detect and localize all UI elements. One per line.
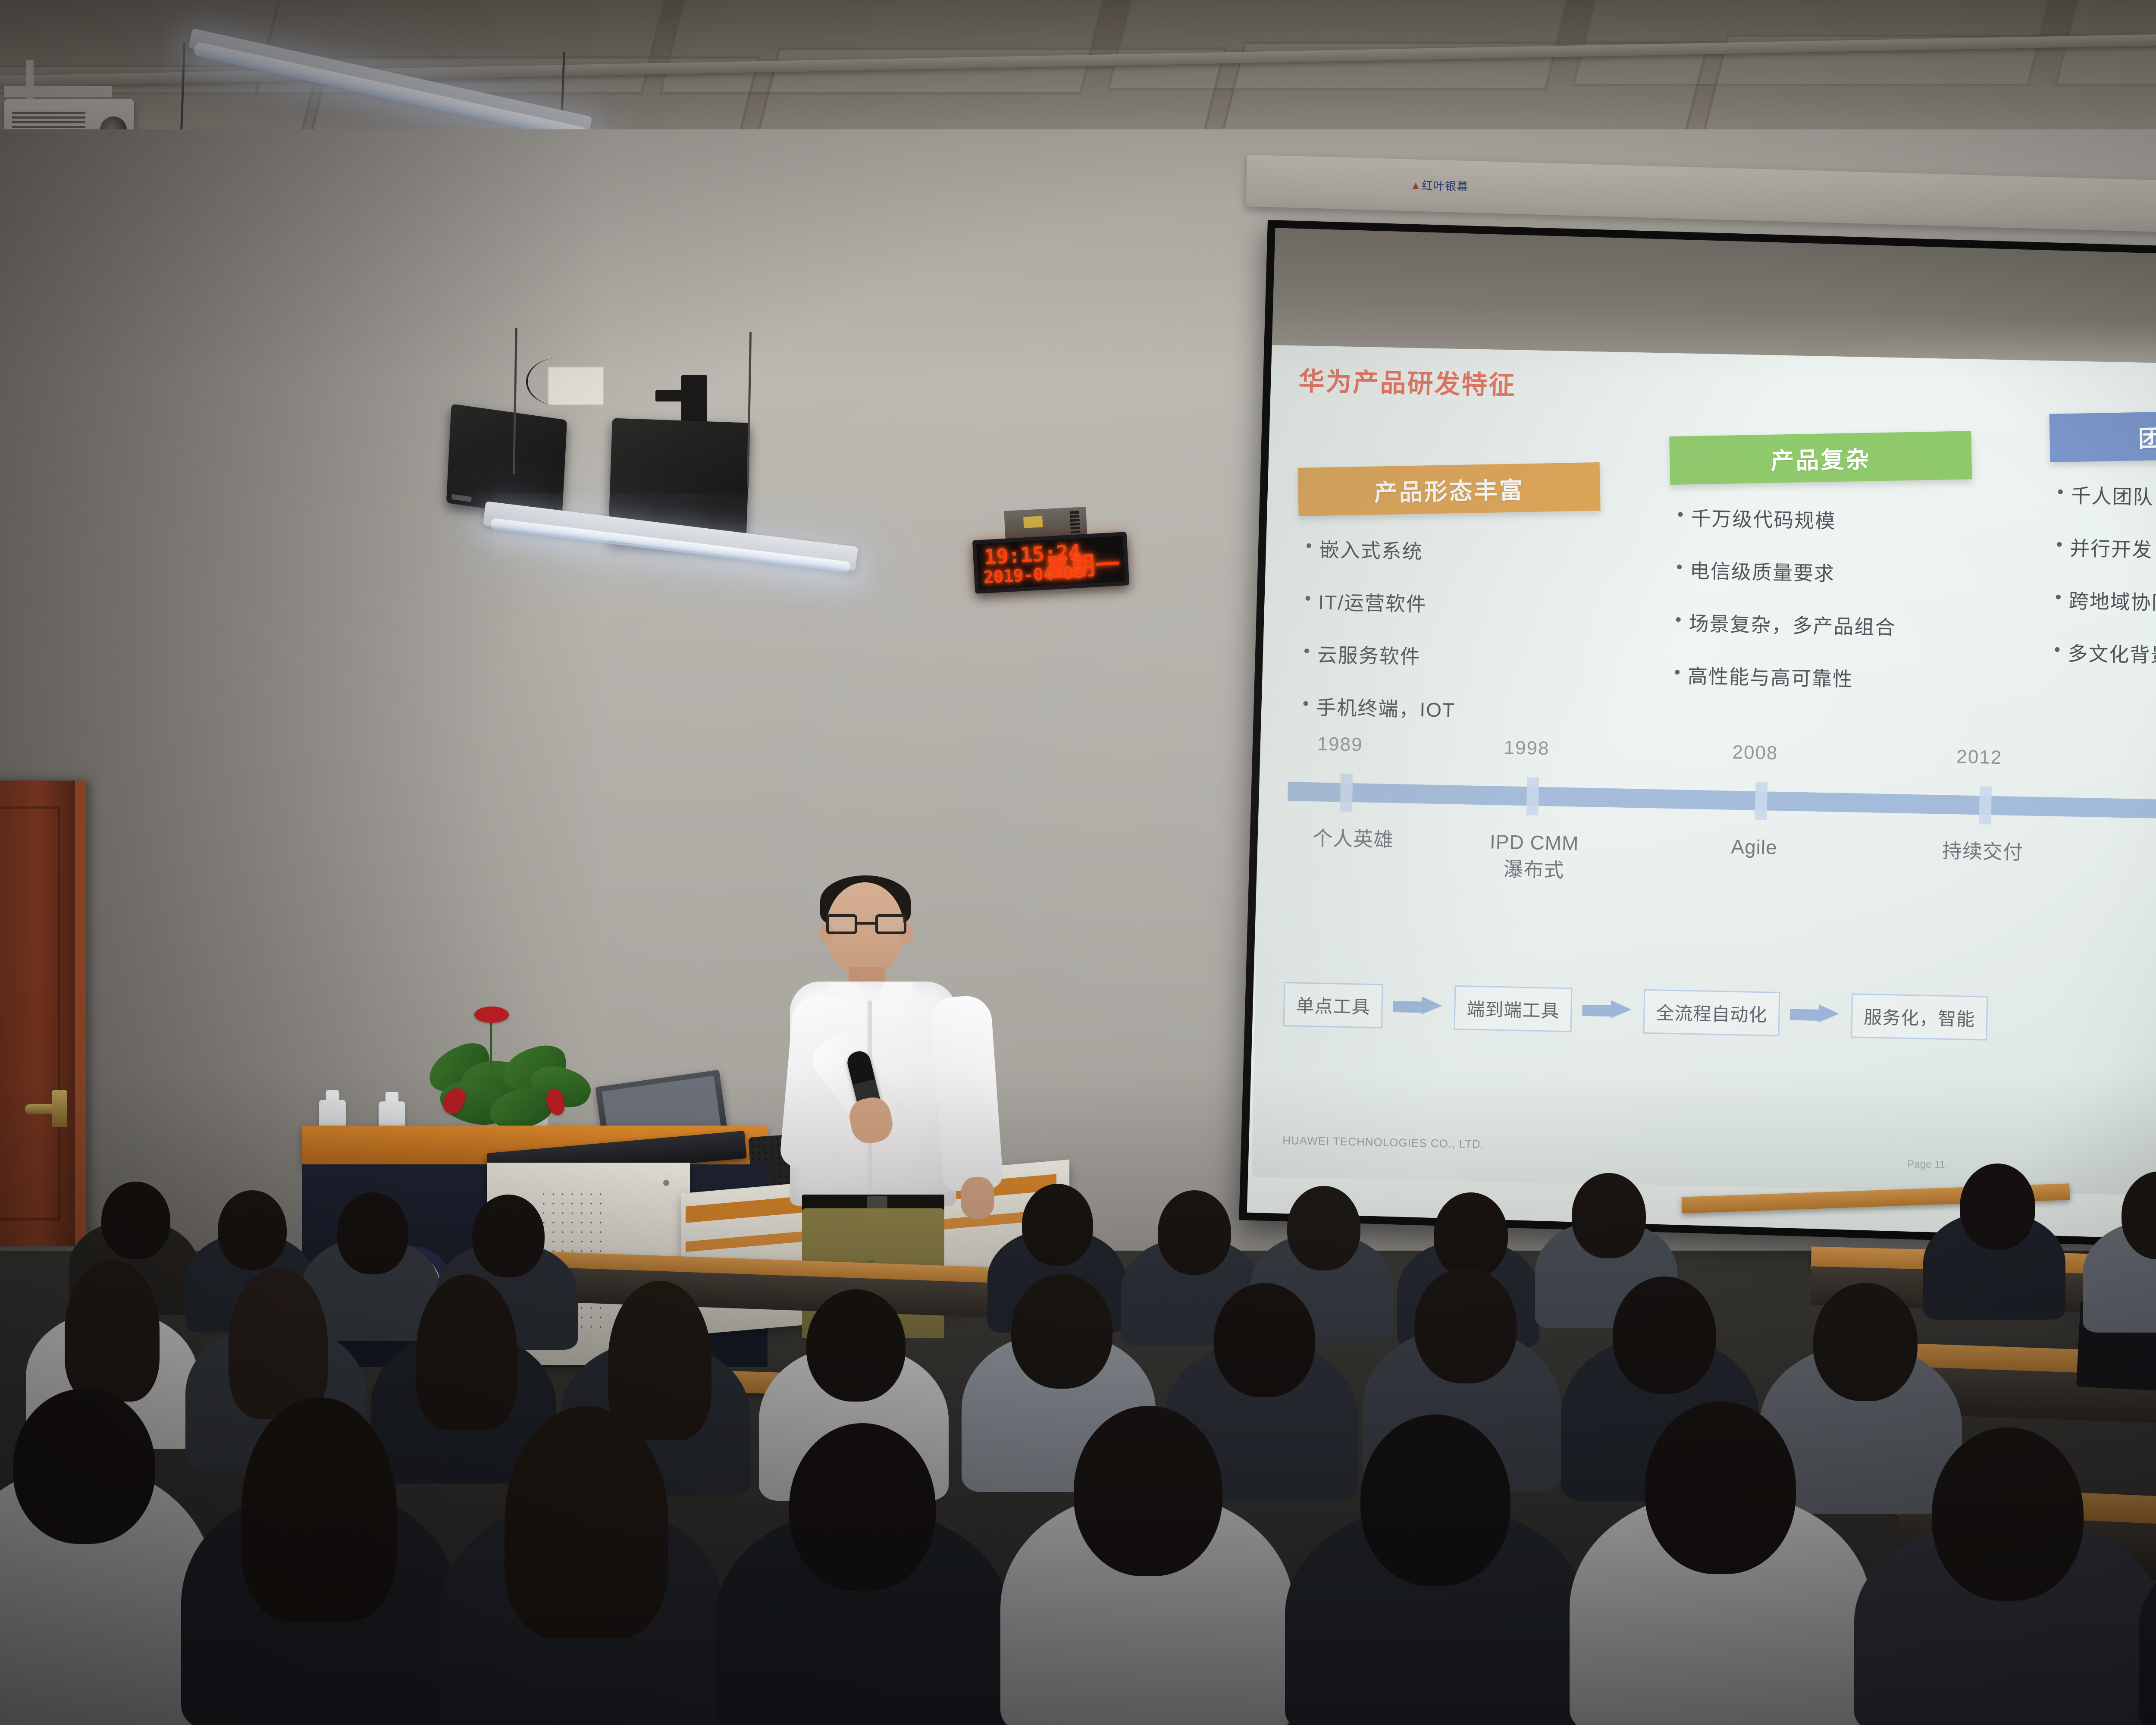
slide-content: 华为产品研发特征 产品形态丰富 嵌入式系统 IT/运营软件 云服务软件 手机终端…: [1252, 345, 2156, 1201]
feature-cards: 产品形态丰富 嵌入式系统 IT/运营软件 云服务软件 手机终端，IOT 产品复杂…: [1281, 397, 2156, 747]
audience-head: [472, 1195, 545, 1277]
timeline-label: 个人英雄: [1293, 824, 1414, 854]
lecture-hall-photo: 19:15:24 2019-04-08 星期一 ▲红叶银幕 华为产品研发特征 产…: [0, 0, 2156, 1725]
audience-head: [1434, 1192, 1508, 1278]
feature-card-complexity: 产品复杂 千万级代码规模 电信级质量要求 场景复杂，多产品组合 高性能与高可靠性: [1664, 431, 1972, 719]
audience-head: [1360, 1414, 1510, 1586]
audience-head: [13, 1389, 155, 1544]
timeline-label: DevOpsScaled Agile微服务: [2134, 841, 2156, 928]
timeline-tick: [1526, 777, 1539, 815]
list-item: 并行开发: [2070, 533, 2156, 567]
flower-bloom: [474, 1007, 509, 1023]
audience-head: [1813, 1283, 1918, 1401]
speaker-cable: [526, 358, 591, 405]
audience-head: [218, 1190, 287, 1270]
audience-head: [806, 1289, 906, 1402]
screen-surface: 华为产品研发特征 产品形态丰富 嵌入式系统 IT/运营软件 云服务软件 手机终端…: [1247, 228, 2156, 1246]
timeline-label: Agile: [1698, 832, 1811, 862]
feature-card-header: 产品形态丰富: [1298, 462, 1601, 516]
flow-step: 服务化，智能: [1851, 993, 1988, 1040]
speaker-brand-badge: [451, 494, 471, 502]
timeline-tick: [1340, 774, 1353, 812]
feature-card-header: 产品复杂: [1669, 431, 1972, 485]
timeline-tick: [1979, 786, 1992, 825]
wall-speaker-left: [446, 404, 567, 519]
timeline-year: 2008: [1732, 742, 1778, 764]
screen-brand-text: 红叶银幕: [1422, 179, 1469, 193]
timeline-bar: [1288, 782, 2156, 823]
speaker-bracket-arm: [655, 390, 703, 401]
audience-head: [1572, 1173, 1646, 1258]
slide-title: 华为产品研发特征: [1298, 360, 1517, 402]
list-item: 千万级代码规模: [1691, 503, 1971, 537]
audience-hair-long: [65, 1259, 160, 1402]
led-clock-display: 19:15:24 2019-04-08 星期一: [972, 532, 1129, 594]
flow-step: 单点工具: [1283, 982, 1383, 1028]
tooling-flow: 单点工具 端到端工具 全流程自动化 服务化，智能: [1283, 972, 2156, 1058]
feature-card-team: 团队规模大 千人团队 并行开发 跨地域协同 多文化背景: [2045, 408, 2156, 696]
timeline-year: 1989: [1317, 733, 1363, 756]
audience-head: [1214, 1283, 1315, 1397]
audience-head: [1960, 1164, 2035, 1250]
flower-stem: [490, 1019, 492, 1066]
audience-head: [1011, 1274, 1112, 1389]
audience-head: [1414, 1268, 1517, 1383]
list-item: 高性能与高可靠性: [1687, 661, 1967, 695]
list-item: 千人团队: [2071, 480, 2156, 514]
feature-card-items: 千万级代码规模 电信级质量要求 场景复杂，多产品组合 高性能与高可靠性: [1665, 502, 1971, 695]
audience-head: [1074, 1406, 1222, 1576]
screen-brand-mark: ▲: [1410, 179, 1422, 192]
audience-head: [1932, 1427, 2084, 1601]
potted-plant: [410, 996, 612, 1138]
mount-amber-label: [1023, 516, 1043, 528]
audience-seating: [0, 1130, 2156, 1725]
audience-head: [1613, 1276, 1716, 1394]
audience-hair-long: [241, 1397, 397, 1621]
list-item: IT/运营软件: [1318, 586, 1598, 621]
list-item: 多文化背景: [2068, 638, 2156, 672]
audience-head: [789, 1423, 936, 1591]
door-lock-plate: [52, 1090, 67, 1127]
flow-step: 全流程自动化: [1643, 989, 1780, 1036]
flow-arrow-icon: [1582, 1001, 1633, 1019]
projection-screen: 华为产品研发特征 产品形态丰富 嵌入式系统 IT/运营软件 云服务软件 手机终端…: [1239, 220, 2156, 1254]
audience-head: [1022, 1184, 1093, 1266]
list-item: 场景复杂，多产品组合: [1689, 608, 1968, 642]
eyeglass-lens-left: [826, 914, 857, 934]
audience-hair-long: [505, 1406, 668, 1639]
eyeglass-bridge: [857, 922, 875, 925]
feature-card-products: 产品形态丰富 嵌入式系统 IT/运营软件 云服务软件 手机终端，IOT: [1293, 462, 1601, 750]
list-item: 嵌入式系统: [1319, 534, 1599, 568]
audience-head: [1645, 1402, 1796, 1574]
feature-card-header: 团队规模大: [2049, 408, 2156, 462]
timeline-year: 2012: [1956, 746, 2002, 768]
list-item: 手机终端，IOT: [1316, 692, 1596, 726]
audience-head: [337, 1192, 408, 1274]
mount-connector: [1069, 510, 1080, 533]
timeline-tick: [1755, 782, 1767, 820]
evolution-timeline: 1989 1998 2008 2012 2013~ 个人英雄 IPD CMM瀑布…: [1282, 725, 2156, 989]
flow-arrow-icon: [1393, 997, 1444, 1016]
timeline-label: 持续交付: [1918, 837, 2047, 866]
feature-card-items: 千人团队 并行开发 跨地域协同 多文化背景: [2045, 480, 2156, 672]
flow-step: 端到端工具: [1454, 985, 1573, 1032]
audience-head: [1287, 1186, 1360, 1270]
eyeglass-lens-right: [875, 914, 906, 934]
list-item: 电信级质量要求: [1689, 555, 1969, 590]
screen-brand-label: ▲红叶银幕: [1410, 176, 1469, 194]
flow-arrow-icon: [1790, 1006, 1841, 1024]
led-clock-weekday: 星期一: [1044, 544, 1121, 584]
audience-head: [1158, 1190, 1231, 1275]
timeline-label: IPD CMM瀑布式: [1464, 828, 1603, 885]
list-item: 云服务软件: [1317, 639, 1597, 673]
audience-hair-long: [229, 1268, 328, 1419]
eyeglasses-icon: [826, 914, 906, 934]
audience-head: [101, 1182, 170, 1259]
audience-hair-long: [416, 1274, 517, 1430]
list-item: 跨地域协同: [2068, 585, 2156, 619]
timeline-year: 1998: [1504, 737, 1550, 759]
feature-card-items: 嵌入式系统 IT/运营软件 云服务软件 手机终端，IOT: [1294, 533, 1599, 726]
projector-mount-plate: [4, 86, 112, 97]
audience-hair-long: [608, 1281, 711, 1440]
